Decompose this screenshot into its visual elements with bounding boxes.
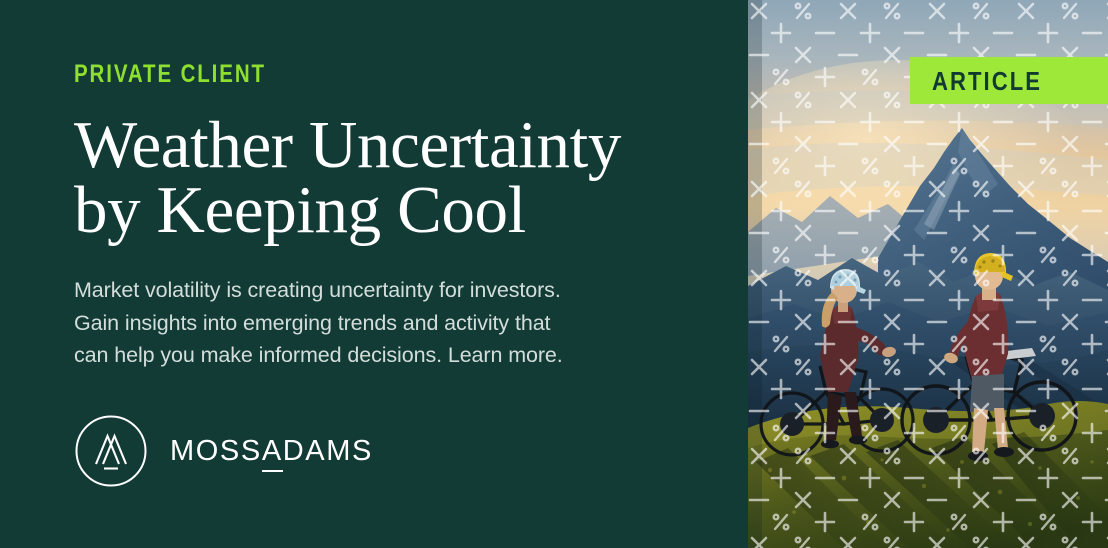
body-copy-line-3: can help you make informed decisions. Le… — [74, 339, 748, 372]
wordmark-suffix: DAMS — [283, 435, 373, 467]
headline-line-1: Weather Uncertainty — [74, 113, 748, 178]
body-copy-line-1: Market volatility is creating uncertaint… — [74, 274, 748, 307]
page-title: Weather Uncertainty by Keeping Cool — [74, 113, 748, 243]
body-copy: Market volatility is creating uncertaint… — [74, 274, 748, 372]
moss-adams-logo[interactable]: MOSSADAMS — [74, 414, 373, 488]
article-badge-label: ARTICLE — [932, 68, 1042, 94]
wordmark-underlined-a: A — [262, 435, 283, 472]
mountain-mark-icon — [74, 414, 148, 488]
body-copy-line-2: Gain insights into emerging trends and a… — [74, 307, 748, 340]
headline-line-2: by Keeping Cool — [74, 178, 748, 243]
moss-adams-wordmark: MOSSADAMS — [170, 437, 373, 466]
eyebrow-label: PRIVATE CLIENT — [74, 62, 627, 87]
wordmark-prefix: MOSS — [170, 435, 262, 467]
article-badge[interactable]: ARTICLE — [910, 57, 1108, 104]
article-banner: PRIVATE CLIENT Weather Uncertainty by Ke… — [0, 0, 1108, 548]
text-panel: PRIVATE CLIENT Weather Uncertainty by Ke… — [0, 0, 748, 548]
